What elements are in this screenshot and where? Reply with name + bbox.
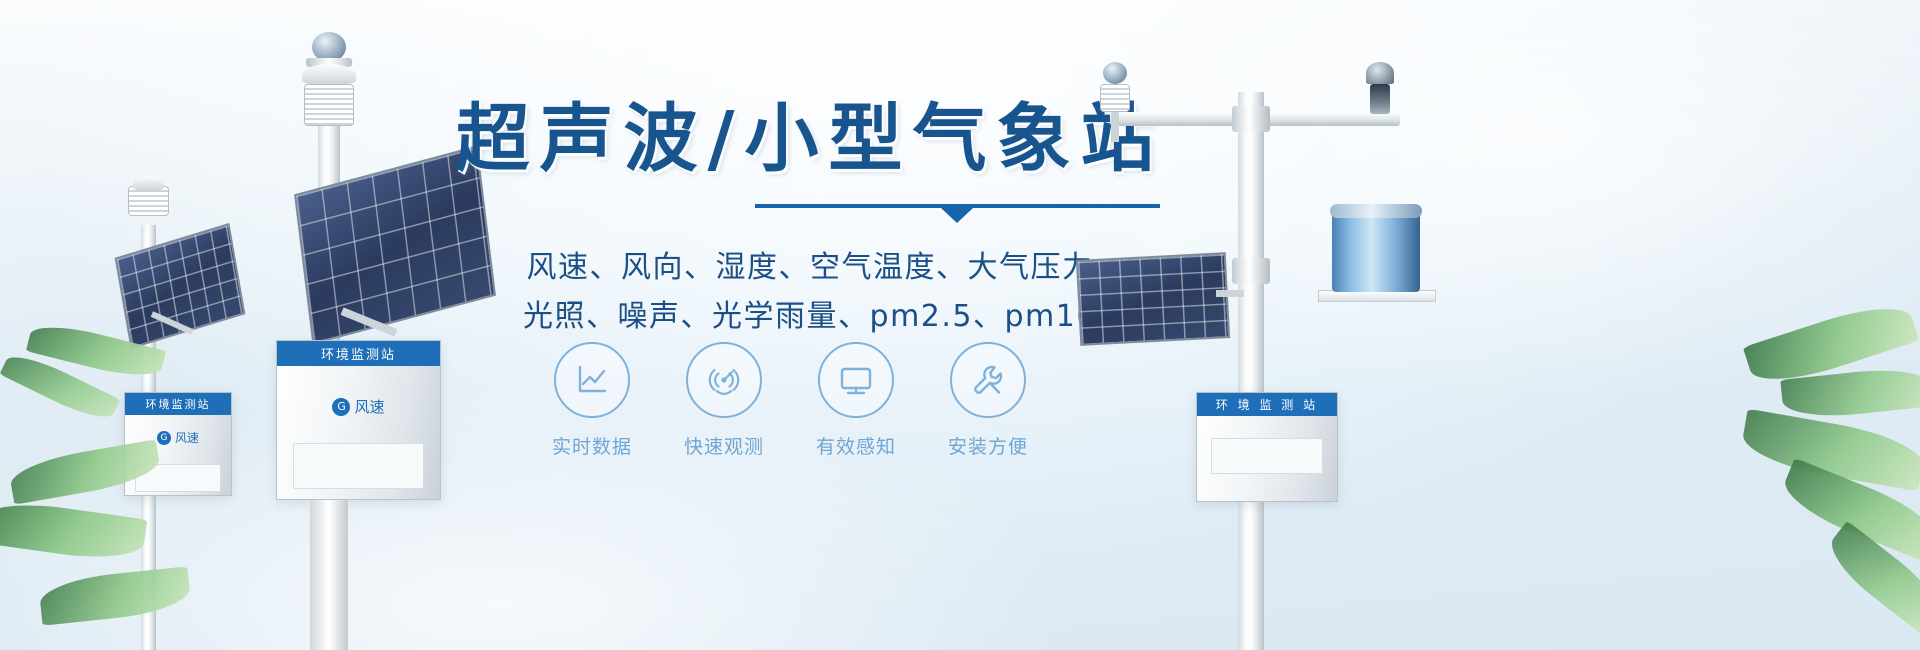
feature-effective-sensing[interactable]: 有效感知 [804,342,908,459]
feature-realtime-data[interactable]: 实时数据 [540,342,644,459]
pole-base-left-tall [310,500,348,650]
panel-bracket-right [1216,290,1244,297]
radiation-shield-left-small [128,186,169,216]
radar-signal-icon [686,342,762,418]
brand-logo-left-tall: G 风速 [277,396,440,417]
enclosure-label-left-tall: 环境监测站 [277,341,440,366]
water-tank-right [1332,212,1420,292]
feature-easy-installation[interactable]: 安装方便 [936,342,1040,459]
ultrasonic-wind-sensor-right [1100,84,1130,112]
sensor-cap-left-small [133,176,164,190]
brand-mark-icon: G [157,431,171,445]
brand-name: 风速 [354,396,384,417]
subtitle-line-1: 风速、风向、湿度、空气温度、大气压力 [440,244,1180,293]
rain-gauge-funnel [302,64,356,84]
feature-fast-observation[interactable]: 快速观测 [672,342,776,459]
mast-collar-upper [1232,106,1270,132]
mast-collar-lower [1232,258,1270,284]
sensor-drop-tube [1111,112,1119,142]
subtitle-line-2: 光照、噪声、光学雨量、pm2.5、pm10 [440,293,1180,342]
line-chart-icon [554,342,630,418]
wind-sensor-dome [1103,62,1127,84]
enclosure-label-right: 环 境 监 测 站 [1197,393,1337,416]
banner-title: 超声波/小型气象站 [440,100,1180,178]
title-divider [755,204,1160,224]
divider-triangle-icon [941,208,973,223]
enclosure-box-right: 环 境 监 测 站 [1196,392,1338,502]
mast-pole-right [1238,92,1264,650]
enclosure-label-left-small: 环境监测站 [125,393,231,415]
enclosure-vent-left-tall [293,443,424,489]
solar-cells [1078,254,1228,344]
pyranometer-head [1366,62,1394,84]
tank-lid-right [1330,204,1422,218]
brand-mark-icon: G [332,398,350,416]
feature-list: 实时数据 快速观测 [540,342,1040,459]
wrench-tool-icon [950,342,1026,418]
solar-panel-right [1076,252,1230,346]
radiation-shield-left-tall [304,84,354,126]
feature-label: 快速观测 [684,432,764,459]
enclosure-box-left-tall: 环境监测站 G 风速 [276,340,441,500]
product-banner: 环境监测站 G 风速 环境监测站 G 风速 [0,0,1920,650]
feature-label: 实时数据 [552,432,632,459]
feature-label: 安装方便 [948,432,1028,459]
pyranometer-sensor-right [1370,84,1390,114]
brand-name: 风速 [175,429,199,446]
banner-subtitle-block: 风速、风向、湿度、空气温度、大气压力 光照、噪声、光学雨量、pm2.5、pm10 [440,244,1180,341]
monitor-screen-icon [818,342,894,418]
feature-label: 有效感知 [816,432,896,459]
banner-text-block: 超声波/小型气象站 风速、风向、湿度、空气温度、大气压力 光照、噪声、光学雨量、… [440,100,1180,342]
enclosure-vent-right [1211,438,1323,474]
